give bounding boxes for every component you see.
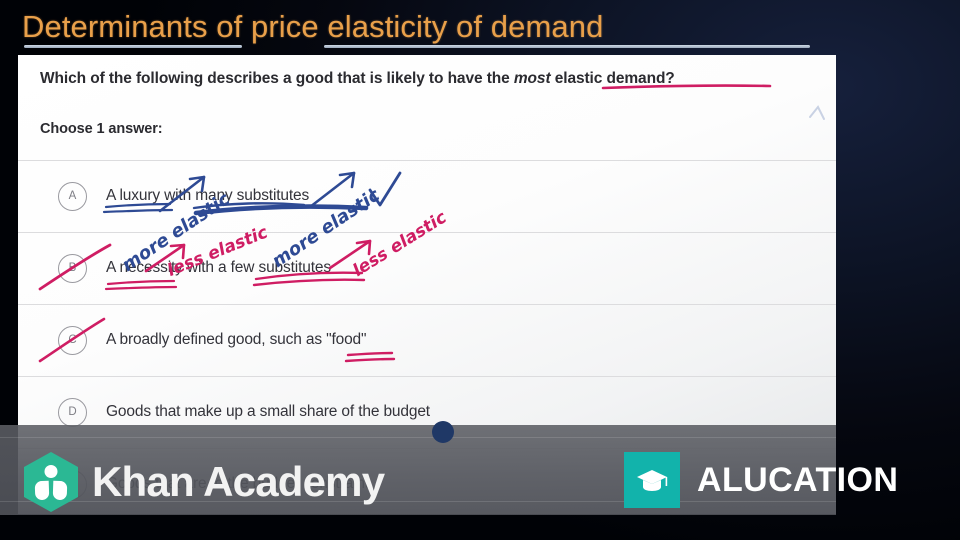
- khan-icon-leaf-right: [53, 481, 68, 500]
- graduation-cap-icon: [624, 452, 680, 508]
- choose-instruction: Choose 1 answer:: [40, 121, 163, 137]
- alucation-logo: ALUCATION: [624, 452, 898, 508]
- question-text: Which of the following describes a good …: [40, 69, 818, 89]
- khan-academy-leaf-icon: [24, 452, 78, 512]
- option-label-d: Goods that make up a small share of the …: [106, 403, 430, 421]
- khan-academy-logo: Khan Academy: [24, 452, 384, 512]
- graduation-cap-glyph: [635, 467, 669, 493]
- cursor-dot: [432, 421, 454, 443]
- option-label-c: A broadly defined good, such as "food": [106, 331, 366, 349]
- option-badge-d: D: [58, 398, 87, 427]
- khan-icon-head: [45, 465, 58, 478]
- option-row-c[interactable]: C A broadly defined good, such as "food": [18, 304, 836, 376]
- band-line-top: [0, 437, 836, 438]
- question-emphasis: most: [514, 70, 551, 87]
- page-title: Determinants of price elasticity of dema…: [22, 10, 603, 44]
- question-tail: elastic demand?: [551, 70, 675, 87]
- title-underline-segment-2: [324, 45, 810, 48]
- slide-canvas: Determinants of price elasticity of dema…: [0, 0, 960, 540]
- khan-icon-leaf-left: [35, 481, 50, 500]
- alucation-wordmark: ALUCATION: [697, 463, 898, 497]
- question-lead: Which of the following describes a good …: [40, 70, 514, 87]
- option-badge-b: B: [58, 254, 87, 283]
- edge-scribble-mark: [810, 107, 824, 119]
- khan-academy-wordmark: Khan Academy: [92, 461, 384, 503]
- option-badge-a: A: [58, 182, 87, 211]
- title-underline-segment-1: [24, 45, 242, 48]
- option-badge-c: C: [58, 326, 87, 355]
